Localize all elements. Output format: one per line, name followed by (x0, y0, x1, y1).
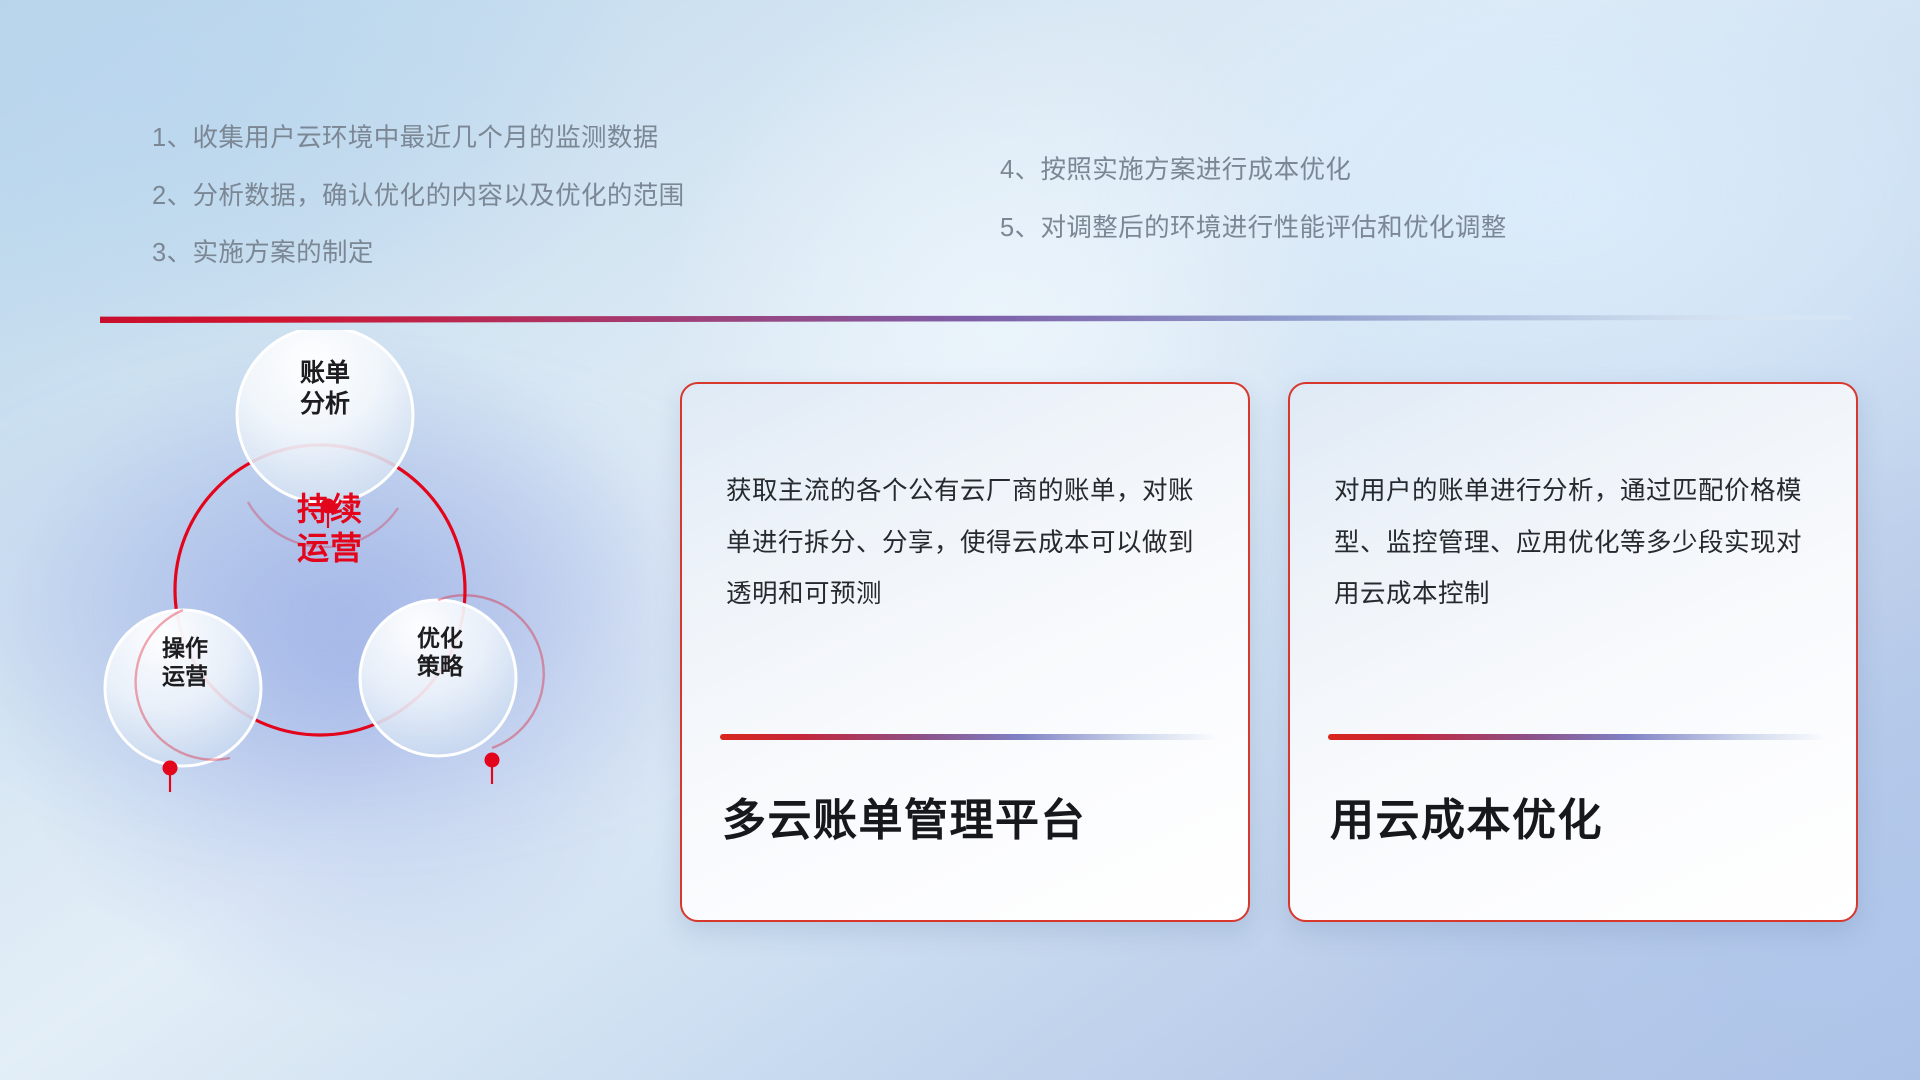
venn-node-left (163, 761, 178, 776)
venn-node-right (485, 753, 500, 768)
venn-circle-operation (105, 610, 261, 766)
card-2-title: 用云成本优化 (1330, 784, 1836, 848)
bullet-item-2: 2、分析数据，确认优化的内容以及优化的范围 (152, 184, 685, 210)
venn-circle-bill-analysis (237, 330, 413, 503)
bullet-list-right: 4、按照实施方案进行成本优化 5、对调整后的环境进行性能评估和优化调整 (1000, 158, 1507, 241)
card-multi-cloud-billing-platform[interactable]: 获取主流的各个公有云厂商的账单，对账单进行拆分、分享，使得云成本可以做到透明和可… (680, 382, 1250, 922)
card-1-accent-rule (720, 734, 1218, 740)
card-1-title: 多云账单管理平台 (722, 784, 1228, 848)
section-divider (100, 315, 1852, 323)
card-2-body: 对用户的账单进行分析，通过匹配价格模型、监控管理、应用优化等多少段实现对用云成本… (1334, 466, 1822, 621)
venn-svg (80, 330, 560, 850)
bullet-item-3: 3、实施方案的制定 (152, 241, 685, 267)
slide-canvas: 1、收集用户云环境中最近几个月的监测数据 2、分析数据，确认优化的内容以及优化的… (0, 0, 1920, 1080)
card-1-body: 获取主流的各个公有云厂商的账单，对账单进行拆分、分享，使得云成本可以做到透明和可… (726, 466, 1214, 621)
bullet-item-4: 4、按照实施方案进行成本优化 (1000, 158, 1507, 184)
bullet-item-5: 5、对调整后的环境进行性能评估和优化调整 (1000, 216, 1507, 242)
venn-circle-optimization (360, 600, 516, 756)
bullet-item-1: 1、收集用户云环境中最近几个月的监测数据 (152, 126, 685, 152)
bullet-list-left: 1、收集用户云环境中最近几个月的监测数据 2、分析数据，确认优化的内容以及优化的… (152, 126, 685, 267)
venn-node-top (321, 499, 336, 514)
venn-diagram: 账单 分析 操作 运营 优化 策略 持续 运营 (80, 330, 560, 850)
card-cloud-cost-optimization[interactable]: 对用户的账单进行分析，通过匹配价格模型、监控管理、应用优化等多少段实现对用云成本… (1288, 382, 1858, 922)
card-2-accent-rule (1328, 734, 1826, 740)
